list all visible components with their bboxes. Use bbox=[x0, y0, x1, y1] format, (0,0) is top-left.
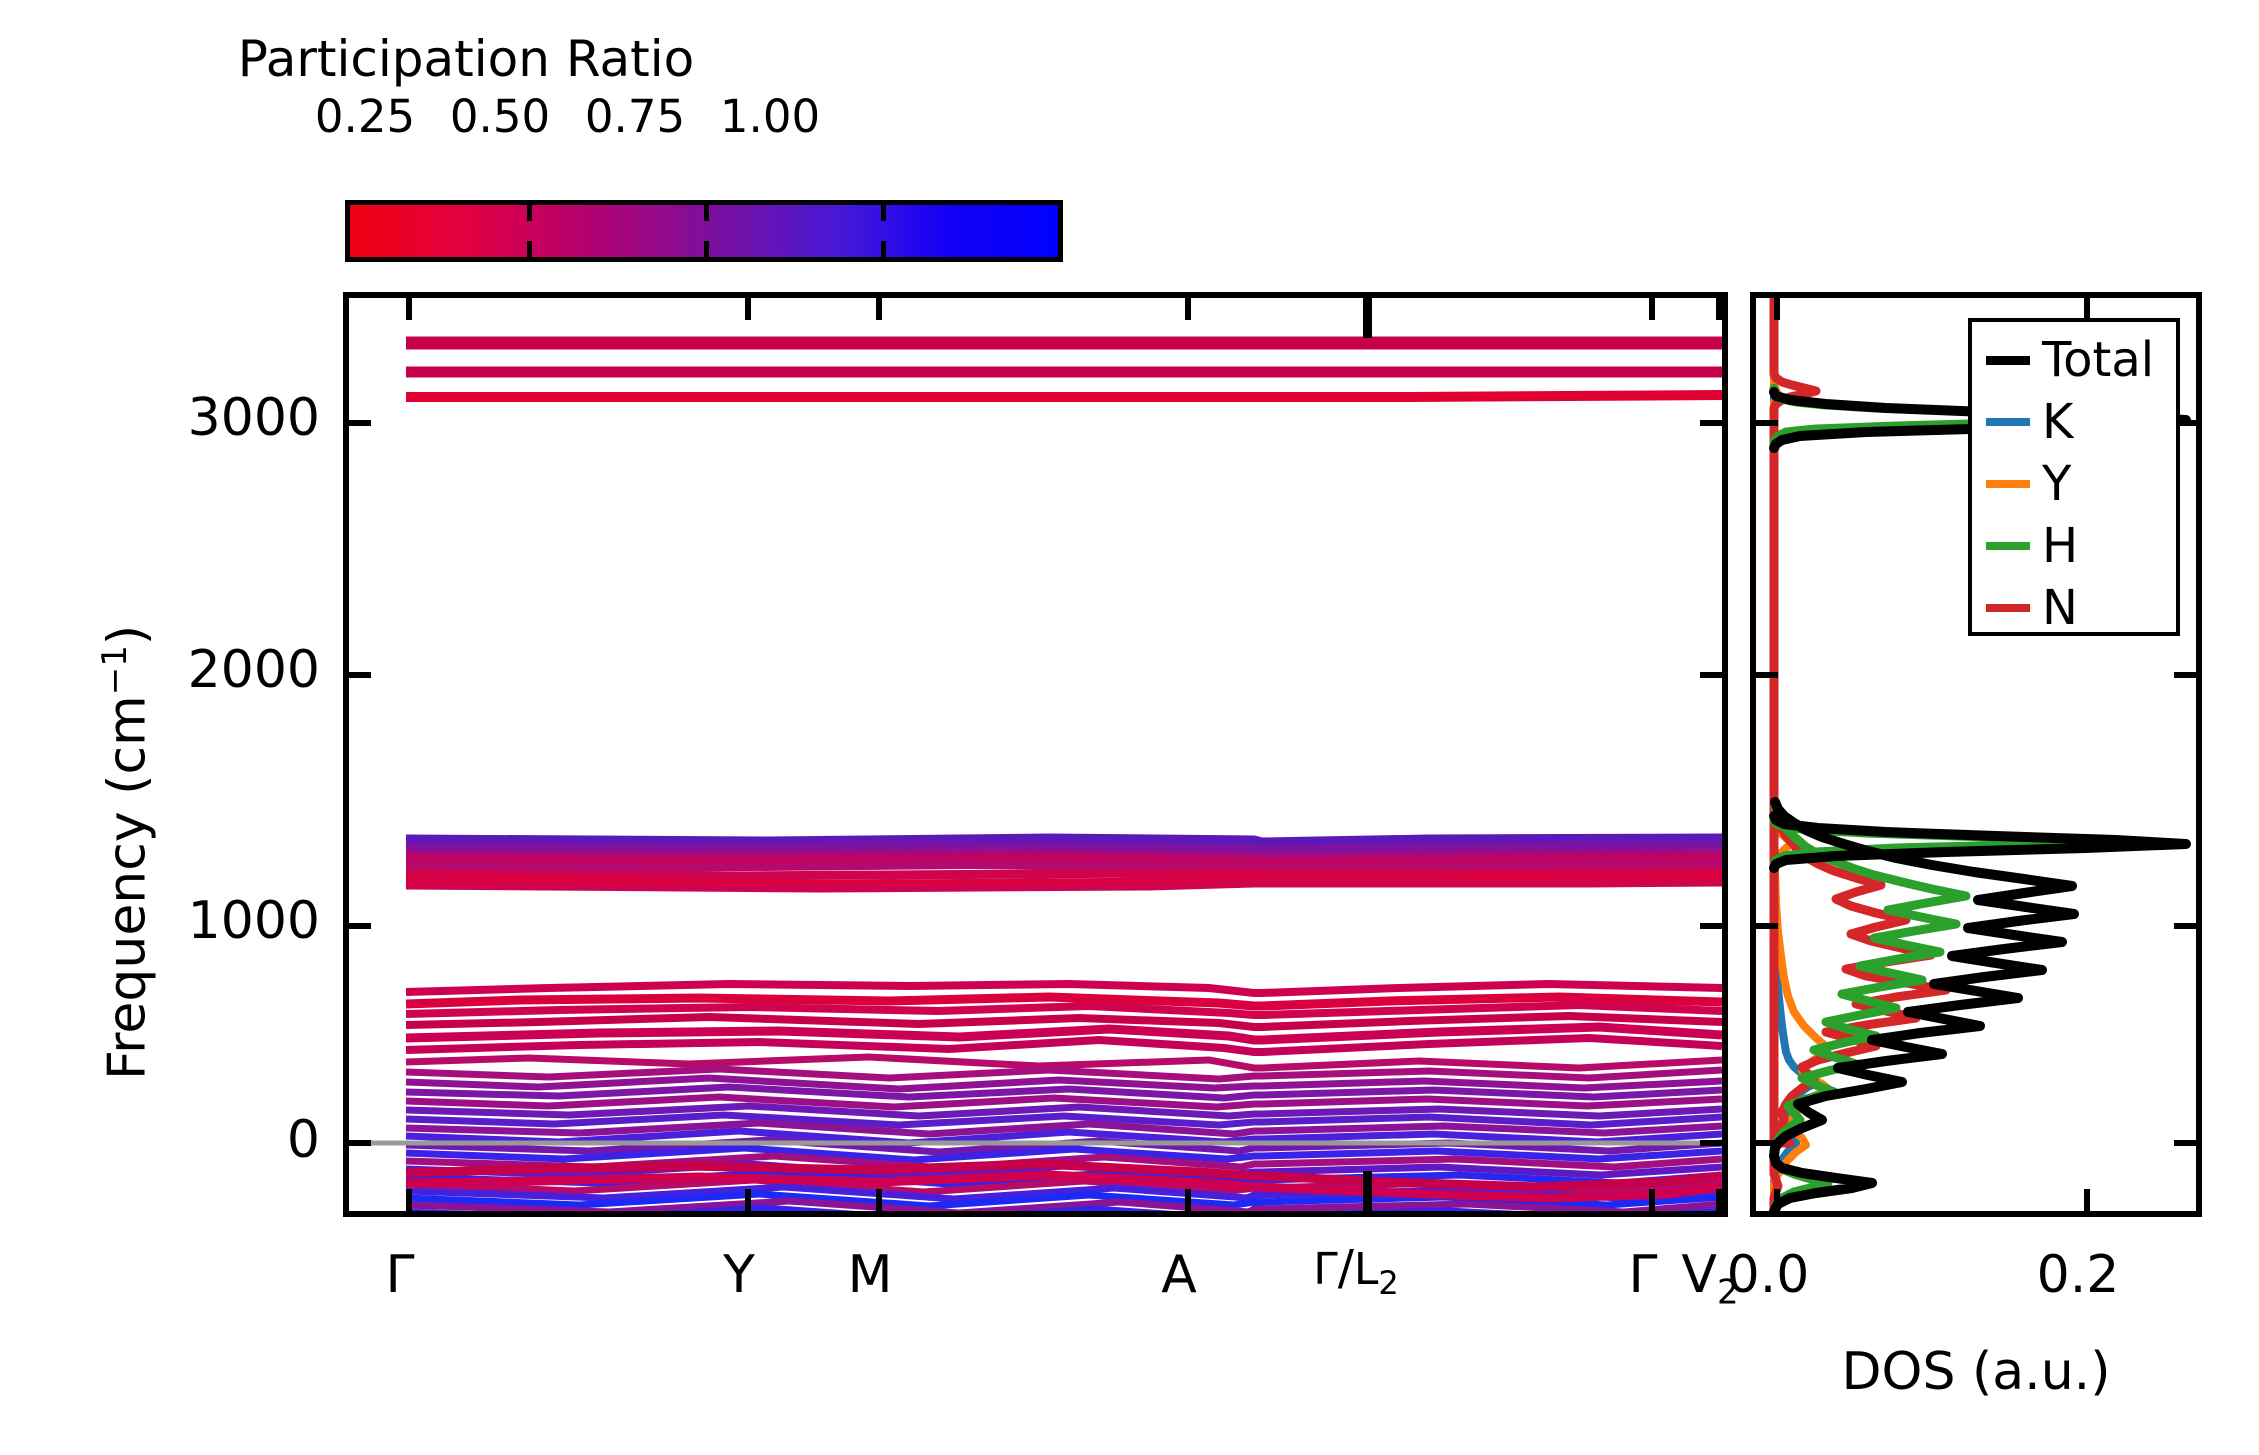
bands-ytick-mark-right-3000 bbox=[1700, 420, 1722, 426]
dos-ytick-mark-right-0 bbox=[2174, 1140, 2196, 1146]
colorbar-tick-mark-0 bbox=[527, 205, 532, 221]
dos-xtick-bottom-1 bbox=[2084, 1189, 2090, 1211]
legend-item-n[interactable]: N bbox=[1972, 576, 2184, 638]
bands-xtick-top-2 bbox=[876, 298, 882, 320]
legend-swatch-k bbox=[1986, 418, 2030, 426]
colorbar-tick-mark-5 bbox=[881, 241, 886, 257]
ytick-label-3000: 3000 bbox=[140, 388, 320, 448]
colorbar-tick-mark-1 bbox=[704, 205, 709, 221]
bands-xtick-top-0 bbox=[406, 298, 412, 320]
colorbar-tick-mark-4 bbox=[704, 241, 709, 257]
bands-xtick-top-3 bbox=[1185, 298, 1191, 320]
bands-ytick-mark-right-1000 bbox=[1700, 923, 1722, 929]
dos-xtick-top-0 bbox=[1774, 298, 1780, 320]
bands-ylabel-sup: −1 bbox=[95, 645, 135, 695]
bands-plot-svg bbox=[349, 298, 1722, 1211]
bands-xtick-bottom-5 bbox=[1649, 1189, 1655, 1211]
bands-xtick-bottom-0 bbox=[406, 1189, 412, 1211]
bands-ytick-mark-3000 bbox=[349, 420, 371, 426]
legend-item-total[interactable]: Total bbox=[1972, 328, 2184, 390]
dos-xtick-bottom-0 bbox=[1774, 1189, 1780, 1211]
bands-xtick-bottom-1 bbox=[745, 1189, 751, 1211]
colorbar-title: Participation Ratio bbox=[238, 30, 694, 88]
bands-xtick-top-5 bbox=[1649, 298, 1655, 320]
bands-ytick-mark-right-0 bbox=[1700, 1140, 1722, 1146]
legend-item-h[interactable]: H bbox=[1972, 514, 2184, 576]
bands-xtick-top-6 bbox=[1716, 298, 1722, 320]
legend-swatch-y bbox=[1986, 480, 2030, 488]
ytick-label-1000: 1000 bbox=[140, 891, 320, 951]
dos-ytick-mark-2000 bbox=[1756, 672, 1778, 678]
legend-item-y[interactable]: Y bbox=[1972, 452, 2184, 514]
bands-ytick-mark-1000 bbox=[349, 923, 371, 929]
bands-ytick-mark-right-2000 bbox=[1700, 672, 1722, 678]
bands-ylabel-text: Frequency (cm bbox=[97, 695, 157, 1080]
colorbar-tick-3: 1.00 bbox=[705, 90, 835, 143]
colorbar-tick-mark-3 bbox=[527, 241, 532, 257]
bands-xtick-bottom-2 bbox=[876, 1189, 882, 1211]
bands-xtick-top-4 bbox=[1363, 298, 1372, 338]
legend-label-k: K bbox=[2042, 394, 2073, 450]
legend-label-total: Total bbox=[2042, 332, 2154, 388]
dos-ytick-mark-3000 bbox=[1756, 420, 1778, 426]
legend-label-y: Y bbox=[2042, 456, 2071, 512]
legend-swatch-n bbox=[1986, 604, 2030, 612]
band-group-stretch-nh bbox=[406, 343, 1722, 397]
dos-ytick-mark-right-1000 bbox=[2174, 923, 2196, 929]
figure-root: Participation Ratio 0.25 0.50 0.75 1.00 … bbox=[0, 0, 2259, 1455]
dos-xtick-top-1 bbox=[2084, 298, 2090, 320]
bands-xtick-top-1 bbox=[745, 298, 751, 320]
colorbar[interactable] bbox=[345, 200, 1063, 262]
legend-label-h: H bbox=[2042, 518, 2078, 574]
xtick-label-gamma-L2: Γ/L2 bbox=[1256, 1240, 1456, 1302]
dos-axes[interactable]: Total K Y H N bbox=[1750, 292, 2202, 1217]
bands-xtick-bottom-6 bbox=[1716, 1189, 1722, 1211]
bands-ytick-mark-2000 bbox=[349, 672, 371, 678]
colorbar-tick-1: 0.50 bbox=[435, 90, 565, 143]
xtick-label-M: M bbox=[770, 1245, 970, 1305]
colorbar-tick-mark-2 bbox=[881, 205, 886, 221]
colorbar-tick-2: 0.75 bbox=[570, 90, 700, 143]
dos-ytick-mark-0 bbox=[1756, 1140, 1778, 1146]
ytick-label-2000: 2000 bbox=[140, 640, 320, 700]
bands-xtick-bottom-3 bbox=[1185, 1189, 1191, 1211]
bands-xtick-bottom-4 bbox=[1363, 1171, 1372, 1211]
bands-axes[interactable] bbox=[343, 292, 1728, 1217]
colorbar-ticklabels: 0.25 0.50 0.75 1.00 bbox=[345, 90, 765, 140]
band-group-bending-nh bbox=[406, 838, 1722, 889]
band-group-librational bbox=[406, 984, 1722, 1052]
dos-legend[interactable]: Total K Y H N bbox=[1968, 318, 2180, 636]
legend-swatch-h bbox=[1986, 542, 2030, 550]
dos-xtick-label-0: 0.0 bbox=[1668, 1245, 1868, 1305]
colorbar-tick-0: 0.25 bbox=[300, 90, 430, 143]
bands-ytick-mark-0 bbox=[349, 1140, 371, 1146]
xtick-label-gamma-1: Γ bbox=[300, 1245, 500, 1305]
xtick-label-A: A bbox=[1079, 1245, 1279, 1305]
legend-item-k[interactable]: K bbox=[1972, 390, 2184, 452]
dos-ytick-mark-1000 bbox=[1756, 923, 1778, 929]
dos-xlabel: DOS (a.u.) bbox=[1842, 1342, 2111, 1402]
ytick-label-0: 0 bbox=[140, 1110, 320, 1170]
legend-label-n: N bbox=[2042, 580, 2078, 636]
legend-swatch-total bbox=[1986, 356, 2030, 365]
dos-ytick-mark-right-2000 bbox=[2174, 672, 2196, 678]
dos-xtick-label-1: 0.2 bbox=[1978, 1245, 2178, 1305]
